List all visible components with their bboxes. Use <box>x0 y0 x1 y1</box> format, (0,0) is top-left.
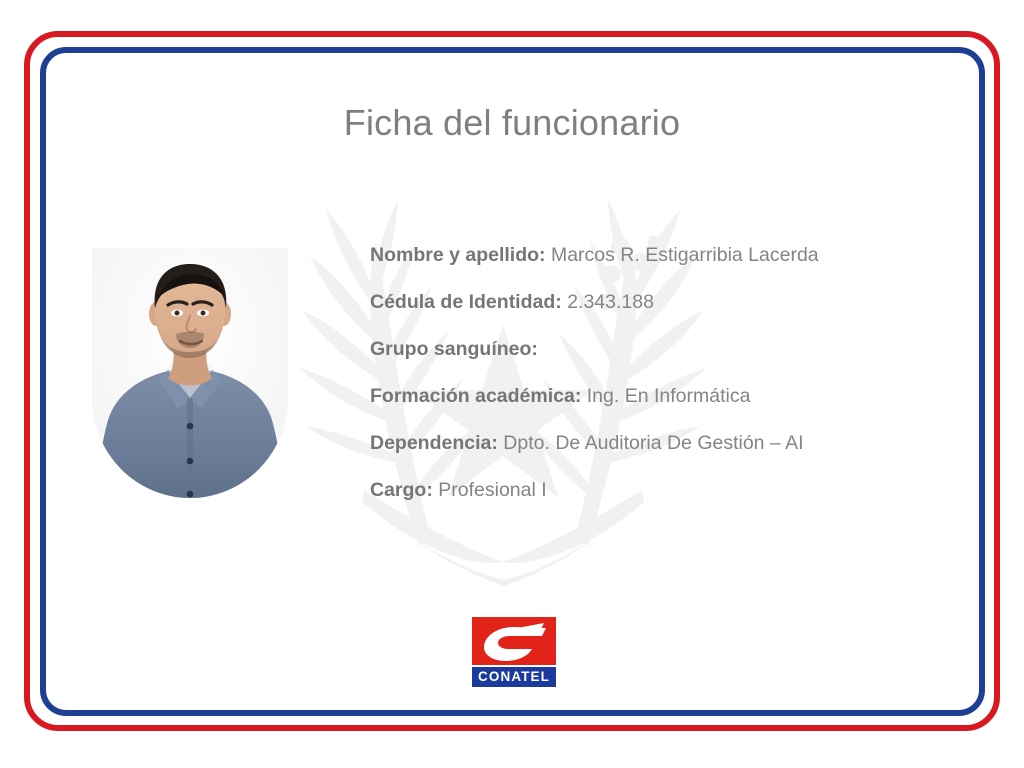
conatel-wordmark: CONATEL <box>472 667 556 687</box>
field-value: Profesional I <box>438 479 546 501</box>
field-nombre-y-apellido: Nombre y apellido: Marcos R. Estigarribi… <box>370 240 970 287</box>
employee-details: Nombre y apellido: Marcos R. Estigarribi… <box>370 240 970 522</box>
field-label: Cédula de Identidad: <box>370 291 567 313</box>
field-dependencia: Dependencia: Dpto. De Auditoria De Gesti… <box>370 428 970 475</box>
field-formacion-academica: Formación académica: Ing. En Informática <box>370 381 970 428</box>
field-value: Marcos R. Estigarribia Lacerda <box>551 244 819 266</box>
conatel-mark-icon <box>472 617 556 665</box>
page-title: Ficha del funcionario <box>0 102 1024 144</box>
field-cargo: Cargo: Profesional I <box>370 475 970 522</box>
field-value: 2.343.188 <box>567 291 654 313</box>
field-cedula-de-identidad: Cédula de Identidad: 2.343.188 <box>370 287 970 334</box>
field-label: Nombre y apellido: <box>370 244 551 266</box>
field-value: Dpto. De Auditoria De Gestión – AI <box>503 432 803 454</box>
field-label: Dependencia: <box>370 432 503 454</box>
field-grupo-sanguineo: Grupo sanguíneo: <box>370 334 970 381</box>
employee-photo <box>92 248 288 498</box>
field-label: Formación académica: <box>370 385 587 407</box>
field-label: Cargo: <box>370 479 438 501</box>
field-label: Grupo sanguíneo: <box>370 338 538 360</box>
conatel-logo: CONATEL <box>472 617 556 687</box>
field-value: Ing. En Informática <box>587 385 751 407</box>
employee-card: Ficha del funcionario <box>0 0 1024 768</box>
